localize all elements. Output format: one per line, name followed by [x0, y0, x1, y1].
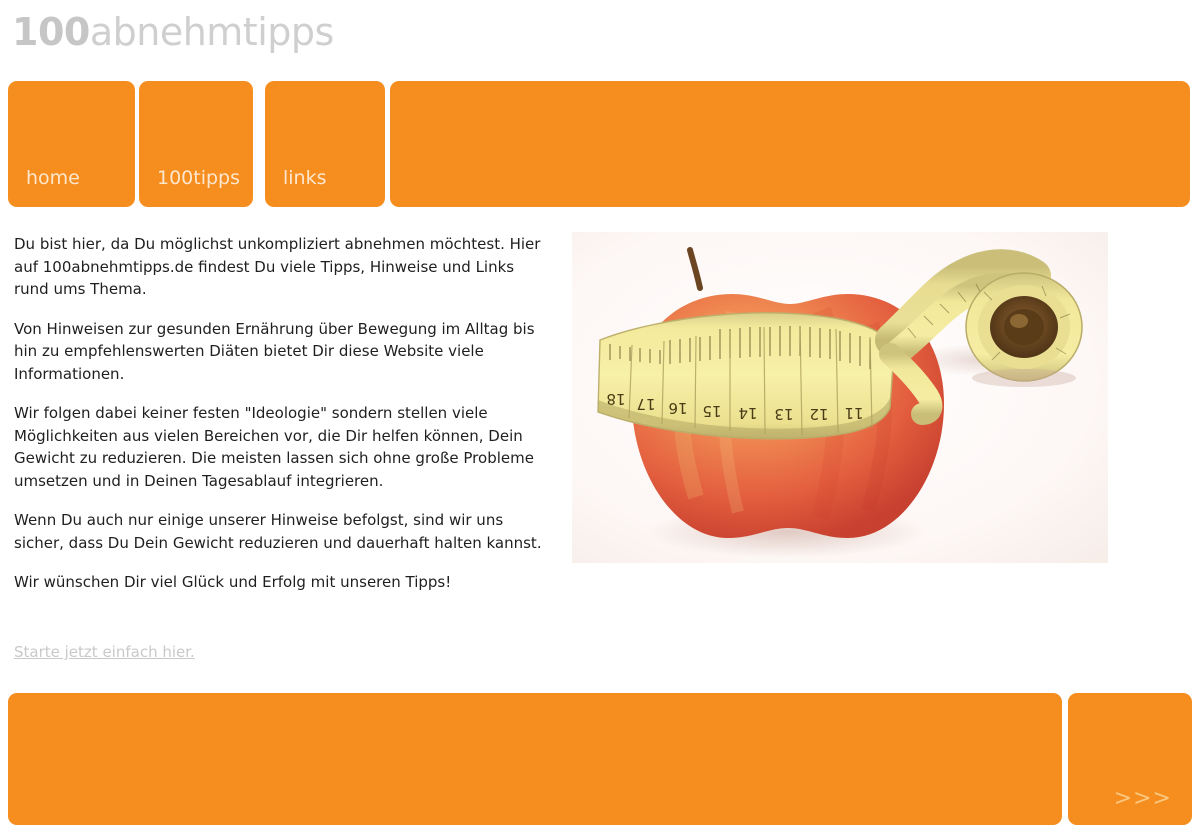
tape-number-12: 12 [809, 405, 828, 423]
logo-strong-text: 100 [12, 10, 90, 54]
nav-item-home-label: home [26, 167, 80, 189]
tape-number-17: 17 [636, 395, 655, 413]
intro-paragraph-4: Wenn Du auch nur einige unserer Hinweise… [14, 509, 544, 554]
nav-item-links[interactable]: links [265, 81, 385, 207]
tape-number-15: 15 [702, 402, 721, 420]
nav-filler-panel [390, 81, 1190, 207]
tape-band: 18 17 16 15 14 13 12 11 [598, 313, 894, 439]
footer-bar: >>> [0, 693, 1200, 825]
tape-number-14: 14 [738, 404, 757, 422]
page-root: 100abnehmtipps home 100tipps links Du bi… [0, 0, 1200, 825]
logo-rest-text: abnehmtipps [90, 10, 334, 54]
next-arrows-icon: >>> [1114, 788, 1172, 810]
apple-measuring-tape-illustration: 18 17 16 15 14 13 12 11 [572, 232, 1108, 563]
tape-number-13: 13 [774, 405, 793, 423]
intro-text-column: Du bist hier, da Du möglichst unkomplizi… [14, 233, 544, 594]
top-navigation: home 100tipps links [0, 81, 1200, 207]
intro-paragraph-1: Du bist hier, da Du möglichst unkomplizi… [14, 233, 544, 301]
footer-main-panel [8, 693, 1062, 825]
nav-item-100tipps-label: 100tipps [157, 167, 240, 189]
intro-paragraph-3: Wir folgen dabei keiner festen "Ideologi… [14, 402, 544, 492]
intro-paragraph-2: Von Hinweisen zur gesunden Ernährung übe… [14, 318, 544, 386]
main-content: Du bist hier, da Du möglichst unkomplizi… [0, 225, 1200, 680]
tape-number-11: 11 [844, 404, 863, 422]
nav-item-home[interactable]: home [8, 81, 135, 207]
nav-item-links-label: links [283, 167, 327, 189]
nav-item-100tipps[interactable]: 100tipps [139, 81, 253, 207]
start-here-link[interactable]: Starte jetzt einfach hier. [14, 641, 195, 663]
footer-next-panel[interactable]: >>> [1068, 693, 1192, 825]
intro-paragraph-5: Wir wünschen Dir viel Glück und Erfolg m… [14, 571, 544, 594]
hero-image-apple-measuring-tape: 18 17 16 15 14 13 12 11 [572, 232, 1108, 563]
tape-number-16: 16 [668, 399, 687, 417]
site-logo: 100abnehmtipps [12, 8, 334, 56]
